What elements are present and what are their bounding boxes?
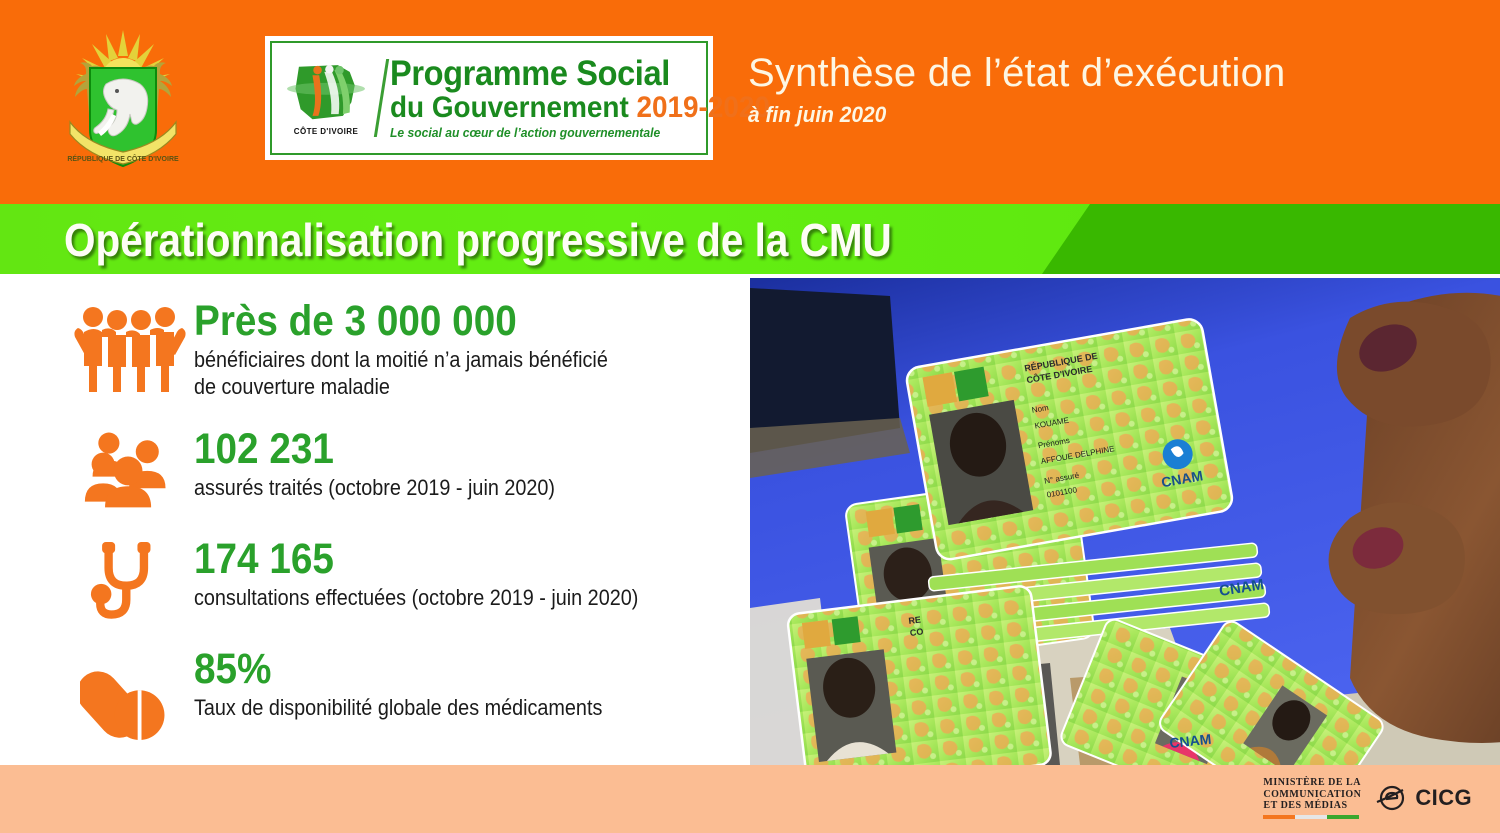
coat-of-arms-icon: RÉPUBLIQUE DE CÔTE D'IVOIRE [62, 22, 184, 174]
logo-tagline: Le social au cœur de l’action gouverneme… [390, 126, 786, 140]
cicg-logo: CICG [1375, 783, 1472, 813]
page-title: Synthèse de l’état d’exécution [748, 50, 1468, 96]
pills-icon [70, 646, 190, 740]
logo-gouvernement-text: du Gouvernement [390, 91, 636, 124]
stat-item: Près de 3 000 000 bénéficiaires dont la … [70, 298, 654, 400]
cicg-circle-icon [1375, 783, 1409, 813]
logo-line-programme-social: Programme Social [390, 56, 770, 91]
stat-value: 85% [194, 646, 602, 692]
stat-label: assurés traités (octobre 2019 - juin 202… [194, 474, 555, 501]
flag-bar-green [1327, 815, 1359, 819]
section-title: Opérationnalisation progressive de la CM… [64, 212, 892, 268]
stat-label: consultations effectuées (octobre 2019 -… [194, 584, 638, 611]
infographic-page: RÉPUBLIQUE DE CÔTE D'IVOIRE [0, 0, 1500, 833]
stat-value: 174 165 [194, 536, 638, 582]
stat-label-line-1: bénéficiaires dont la moitié n’a jamais … [194, 346, 608, 373]
stat-label: Taux de disponibilité globale des médica… [194, 694, 602, 721]
stat-label-line-1: consultations effectuées (octobre 2019 -… [194, 584, 638, 611]
stat-label-line-2: de couverture maladie [194, 373, 608, 400]
stat-item: 102 231 assurés traités (octobre 2019 - … [70, 426, 595, 508]
group-of-people-icon [70, 298, 190, 394]
ministry-flag-bars [1263, 815, 1359, 819]
stat-label-line-1: assurés traités (octobre 2019 - juin 202… [194, 474, 555, 501]
ministry-line-3: ET DES MÉDIAS [1263, 800, 1361, 812]
stat-value: Près de 3 000 000 [194, 298, 608, 344]
ministry-line-1: MINISTÈRE DE LA [1263, 777, 1361, 789]
svg-text:RÉPUBLIQUE DE CÔTE D'IVOIRE: RÉPUBLIQUE DE CÔTE D'IVOIRE [67, 154, 179, 163]
programme-social-logo: CÔTE D'IVOIRE Programme Social du Gouver… [265, 36, 713, 160]
photo-illustration: RÉPUBLIQUE DE CÔTE D'IVOIRE Nom KOUAME P… [750, 278, 1500, 765]
svg-text:RE: RE [908, 615, 922, 626]
header-title-block: Synthèse de l’état d’exécution à fin jui… [748, 50, 1468, 128]
stethoscope-icon [70, 536, 190, 624]
section-banner: Opérationnalisation progressive de la CM… [0, 204, 1500, 274]
flag-bar-orange [1263, 815, 1295, 819]
logo-map-caption: CÔTE D'IVOIRE [294, 127, 358, 136]
ministry-logo: MINISTÈRE DE LA COMMUNICATION ET DES MÉD… [1263, 777, 1361, 819]
people-crowd-icon [70, 426, 190, 508]
flag-bar-white [1295, 815, 1327, 819]
page-footer: MINISTÈRE DE LA COMMUNICATION ET DES MÉD… [0, 765, 1500, 833]
cote-divoire-map-icon: CÔTE D'IVOIRE [272, 43, 380, 153]
stat-item: 174 165 consultations effectuées (octobr… [70, 536, 688, 624]
footer-logos: MINISTÈRE DE LA COMMUNICATION ET DES MÉD… [1263, 777, 1472, 819]
logo-line-gouvernement: du Gouvernement 2019-2020 [390, 92, 770, 123]
svg-text:CO: CO [909, 626, 924, 638]
stat-item: 85% Taux de disponibilité globale des mé… [70, 646, 648, 740]
ministry-line-2: COMMUNICATION [1263, 789, 1361, 801]
photo-cnam-cards: RÉPUBLIQUE DE CÔTE D'IVOIRE Nom KOUAME P… [750, 278, 1500, 765]
page-header: RÉPUBLIQUE DE CÔTE D'IVOIRE [0, 0, 1500, 204]
stat-label-line-1: Taux de disponibilité globale des médica… [194, 694, 602, 721]
page-subtitle: à fin juin 2020 [748, 102, 1432, 128]
cicg-label: CICG [1415, 785, 1472, 811]
stat-label: bénéficiaires dont la moitié n’a jamais … [194, 346, 608, 400]
stat-value: 102 231 [194, 426, 555, 472]
stats-panel: Près de 3 000 000 bénéficiaires dont la … [0, 274, 750, 765]
